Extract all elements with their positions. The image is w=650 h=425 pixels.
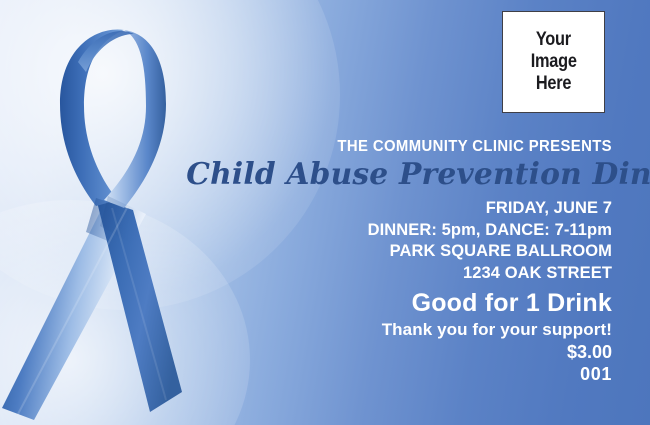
ticket-serial-number: 001 [182, 363, 612, 385]
drink-offer: Good for 1 Drink [182, 288, 612, 318]
event-detail-line: PARK SQUARE BALLROOM [195, 240, 612, 262]
image-placeholder[interactable]: Your Image Here [502, 11, 605, 113]
event-details: FRIDAY, JUNE 7 DINNER: 5pm, DANCE: 7-11p… [182, 197, 612, 283]
ticket-price: $3.00 [182, 341, 612, 363]
event-detail-line: FRIDAY, JUNE 7 [195, 197, 612, 219]
presenter-line: THE COMMUNITY CLINIC PRESENTS [199, 138, 612, 156]
ticket-copy-block: THE COMMUNITY CLINIC PRESENTS Child Abus… [182, 138, 612, 385]
image-placeholder-line-3: Here [536, 73, 571, 95]
thank-you-line: Thank you for your support! [182, 319, 612, 340]
event-title: Child Abuse Prevention Dinner [186, 157, 612, 193]
event-detail-line: DINNER: 5pm, DANCE: 7-11pm [195, 219, 612, 241]
image-placeholder-line-1: Your [536, 29, 571, 51]
image-placeholder-line-2: Image [531, 51, 577, 73]
event-detail-line: 1234 OAK STREET [195, 262, 612, 284]
event-ticket: Your Image Here THE COMMUNITY CLINIC PRE… [0, 0, 650, 425]
